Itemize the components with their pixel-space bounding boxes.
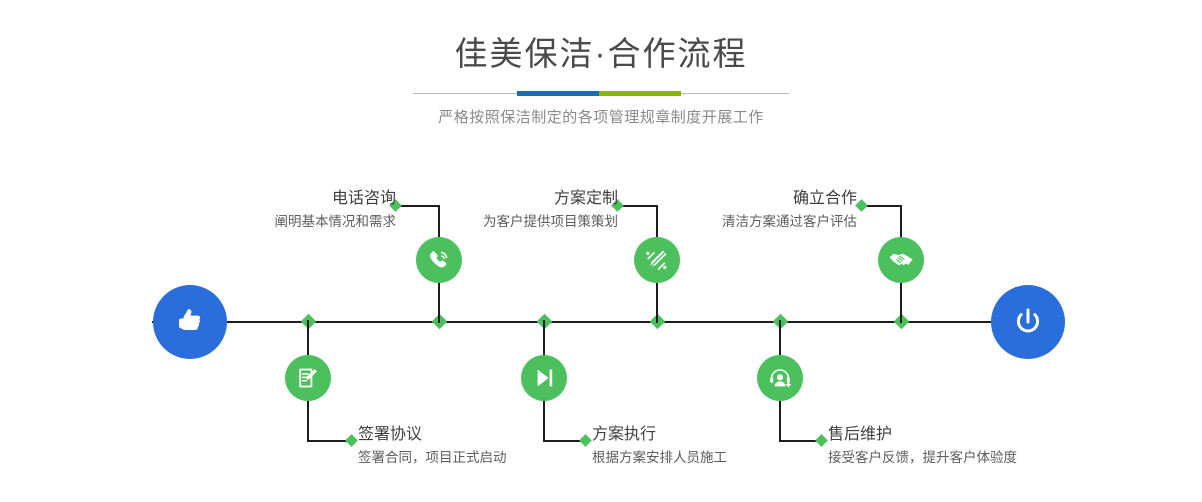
branch-end-diamond <box>579 434 592 447</box>
step-label: 方案执行 根据方案安排人员施工 <box>592 424 727 468</box>
divider-segment-green <box>599 91 681 96</box>
step-label: 确立合作 清洁方案通过客户评估 <box>512 188 867 232</box>
step-desc: 清洁方案通过客户评估 <box>512 212 857 232</box>
step-title: 签署协议 <box>358 424 507 446</box>
step-desc: 根据方案安排人员施工 <box>592 448 727 468</box>
step-icon-circle <box>757 355 803 401</box>
page-header: 佳美保洁·合作流程 严格按照保洁制定的各项管理规章制度开展工作 <box>0 32 1202 129</box>
step-icon-circle <box>416 237 462 283</box>
step-title: 方案执行 <box>592 424 727 446</box>
step-icon-circle <box>878 237 924 283</box>
step-title: 售后维护 <box>828 424 1017 446</box>
title-divider <box>413 89 789 99</box>
step-icon-circle <box>285 355 331 401</box>
pointing-hand-icon <box>171 303 209 341</box>
power-icon <box>1008 302 1048 342</box>
flow-diagram-page: 佳美保洁·合作流程 严格按照保洁制定的各项管理规章制度开展工作 <box>0 0 1202 502</box>
step-label: 售后维护 接受客户反馈，提升客户体验度 <box>828 424 1017 468</box>
customer-service-add-icon <box>766 364 794 392</box>
timeline-axis <box>152 321 1052 323</box>
timeline-end-node <box>991 285 1065 359</box>
pencil-design-icon <box>643 246 671 274</box>
step-title: 确立合作 <box>512 188 857 210</box>
page-title: 佳美保洁·合作流程 <box>0 32 1202 76</box>
step-icon-circle <box>521 355 567 401</box>
phone-call-icon <box>425 246 453 274</box>
step-desc: 接受客户反馈，提升客户体验度 <box>828 448 1017 468</box>
divider-segment-blue <box>517 91 599 96</box>
step-label: 签署协议 签署合同，项目正式启动 <box>358 424 507 468</box>
play-execute-icon <box>530 364 558 392</box>
step-icon-circle <box>634 237 680 283</box>
page-subtitle: 严格按照保洁制定的各项管理规章制度开展工作 <box>0 107 1202 129</box>
handshake-icon <box>887 246 915 274</box>
contract-sign-icon <box>294 364 322 392</box>
timeline-start-node <box>153 285 227 359</box>
branch-end-diamond <box>815 434 828 447</box>
step-desc: 签署合同，项目正式启动 <box>358 448 507 468</box>
branch-end-diamond <box>345 434 358 447</box>
